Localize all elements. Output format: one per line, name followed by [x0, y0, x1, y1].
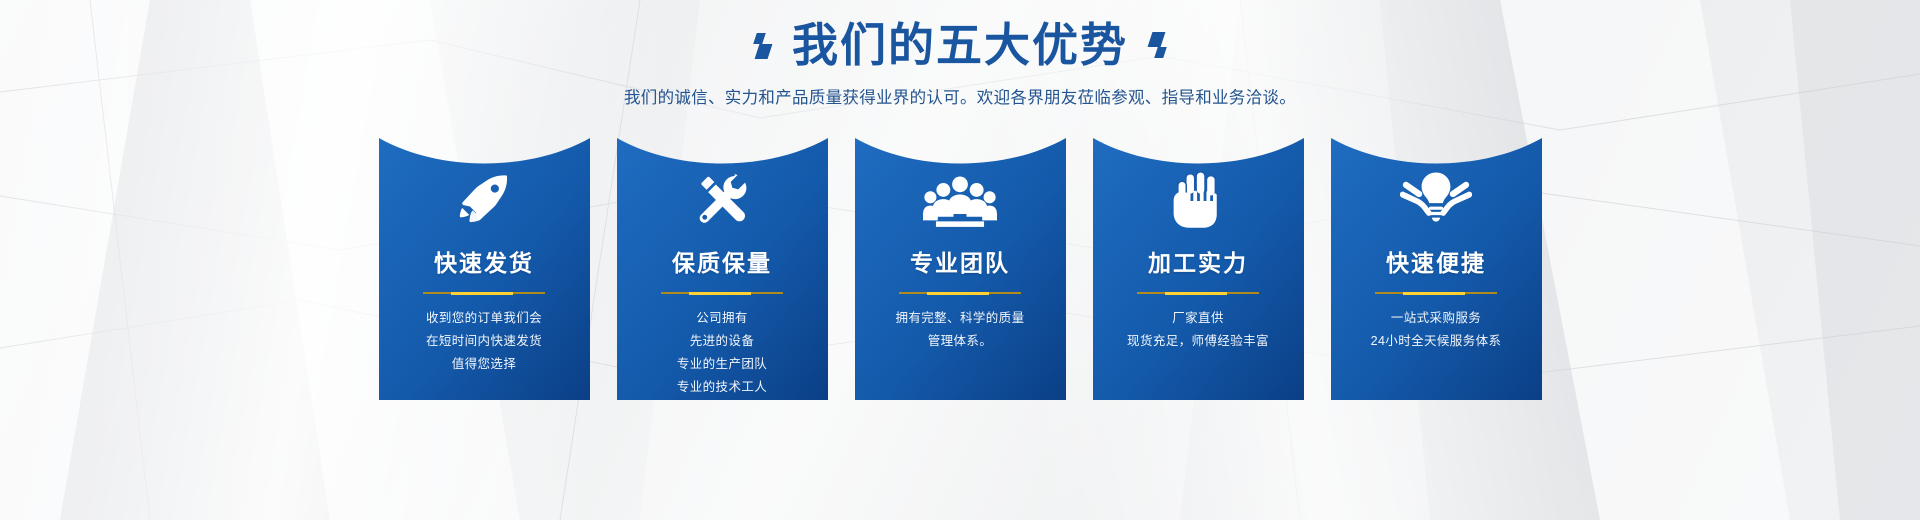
- slanted-bars-right-icon: [1150, 33, 1165, 58]
- card-description-line: 值得您选择: [379, 353, 590, 376]
- advantage-card[interactable]: 专业团队 拥有完整、科学的质量 管理体系。: [855, 138, 1066, 400]
- page-title: 我们的五大优势: [792, 18, 1128, 72]
- card-title: 快速便捷: [1331, 244, 1542, 278]
- card-divider: [423, 292, 545, 294]
- card-divider: [661, 292, 783, 294]
- fist-icon: [1093, 138, 1304, 234]
- card-title: 加工实力: [1093, 244, 1304, 278]
- card-inner: 加工实力 厂家直供 现货充足，师傅经验丰富: [1093, 138, 1304, 400]
- team-people-icon: [855, 138, 1066, 234]
- advantage-card[interactable]: 加工实力 厂家直供 现货充足，师傅经验丰富: [1093, 138, 1304, 400]
- card-description-line: 专业的生产团队: [617, 353, 828, 376]
- card-description-line: 管理体系。: [855, 330, 1066, 353]
- wrench-screwdriver-icon: [617, 138, 828, 234]
- card-description-line: 先进的设备: [617, 330, 828, 353]
- card-description: 拥有完整、科学的质量 管理体系。: [855, 307, 1066, 353]
- card-description: 收到您的订单我们会 在短时间内快速发货 值得您选择: [379, 307, 590, 376]
- advantage-card[interactable]: 快速发货 收到您的订单我们会 在短时间内快速发货 值得您选择: [379, 138, 590, 400]
- card-description-line: 拥有完整、科学的质量: [855, 307, 1066, 330]
- card-description-line: 24小时全天候服务体系: [1331, 330, 1542, 353]
- card-description-line: 专业的技术工人: [617, 376, 828, 399]
- card-divider: [899, 292, 1021, 294]
- card-inner: 快速便捷 一站式采购服务 24小时全天候服务体系: [1331, 138, 1542, 400]
- card-divider: [1375, 292, 1497, 294]
- card-description: 一站式采购服务 24小时全天候服务体系: [1331, 307, 1542, 353]
- card-description: 厂家直供 现货充足，师傅经验丰富: [1093, 307, 1304, 353]
- advantage-card-list: 快速发货 收到您的订单我们会 在短时间内快速发货 值得您选择: [0, 138, 1920, 400]
- card-description-line: 收到您的订单我们会: [379, 307, 590, 330]
- card-title: 专业团队: [855, 244, 1066, 278]
- slanted-bars-left-icon: [755, 32, 770, 59]
- card-description-line: 公司拥有: [617, 307, 828, 330]
- card-description-line: 一站式采购服务: [1331, 307, 1542, 330]
- rocket-icon: [379, 138, 590, 234]
- card-divider: [1137, 292, 1259, 294]
- title-row: 我们的五大优势: [0, 0, 1920, 72]
- hands-lightbulb-icon: [1331, 138, 1542, 234]
- card-inner: 专业团队 拥有完整、科学的质量 管理体系。: [855, 138, 1066, 400]
- card-inner: 快速发货 收到您的订单我们会 在短时间内快速发货 值得您选择: [379, 138, 590, 400]
- card-description-line: 厂家直供: [1093, 307, 1304, 330]
- advantage-card[interactable]: 快速便捷 一站式采购服务 24小时全天候服务体系: [1331, 138, 1542, 400]
- card-description: 公司拥有 先进的设备 专业的生产团队 专业的技术工人: [617, 307, 828, 400]
- card-description-line: 在短时间内快速发货: [379, 330, 590, 353]
- section-header: 我们的五大优势 我们的诚信、实力和产品质量获得业界的认可。欢迎各界朋友莅临参观、…: [0, 0, 1920, 108]
- card-title: 快速发货: [379, 244, 590, 278]
- page-subtitle: 我们的诚信、实力和产品质量获得业界的认可。欢迎各界朋友莅临参观、指导和业务洽谈。: [0, 84, 1920, 108]
- advantage-card[interactable]: 保质保量 公司拥有 先进的设备 专业的生产团队 专业的技术工人: [617, 138, 828, 400]
- card-inner: 保质保量 公司拥有 先进的设备 专业的生产团队 专业的技术工人: [617, 138, 828, 400]
- card-title: 保质保量: [617, 244, 828, 278]
- card-description-line: 现货充足，师傅经验丰富: [1093, 330, 1304, 353]
